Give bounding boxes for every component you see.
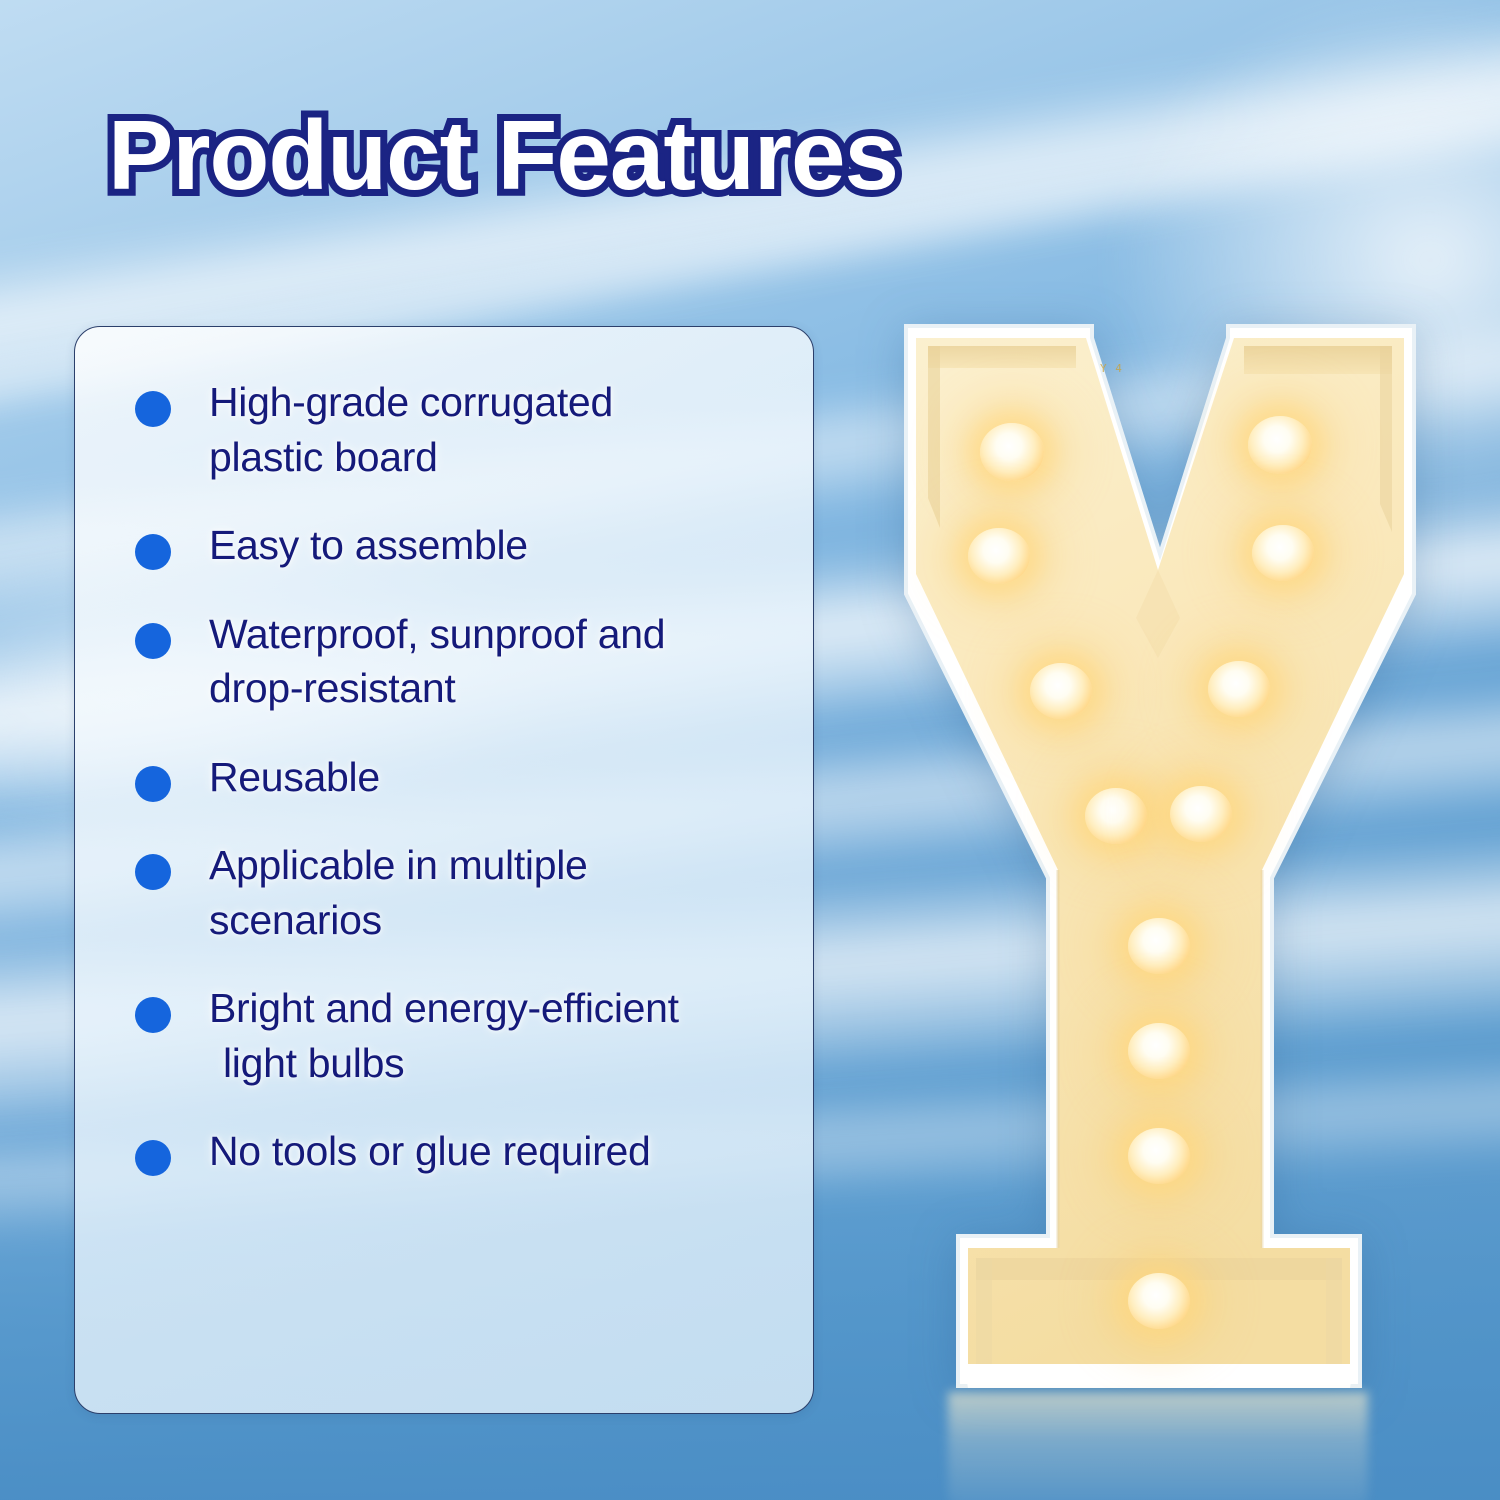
list-item: Easy to assemble xyxy=(135,518,795,573)
letter-inner-lip xyxy=(928,346,1076,368)
list-item: No tools or glue required xyxy=(135,1124,795,1179)
feature-line: Waterproof, sunproof and xyxy=(209,611,665,657)
feature-text: Reusable xyxy=(209,750,380,805)
light-bulb xyxy=(1128,1128,1190,1184)
feature-text: Waterproof, sunproof and drop-resistant xyxy=(209,607,665,716)
list-item: High-grade corrugated plastic board xyxy=(135,375,795,484)
feature-line: No tools or glue required xyxy=(209,1128,650,1174)
features-panel: High-grade corrugated plastic board Easy… xyxy=(74,326,814,1414)
letter-base-side xyxy=(976,1258,992,1364)
letter-base-side xyxy=(1326,1258,1342,1364)
bullet-icon xyxy=(135,854,171,890)
light-bulb xyxy=(980,423,1044,481)
light-bulb xyxy=(1128,918,1190,974)
light-bulb xyxy=(1128,1273,1190,1329)
list-item: Applicable in multiple scenarios xyxy=(135,838,795,947)
product-image xyxy=(880,318,1440,1408)
light-bulb xyxy=(1085,788,1147,844)
feature-line: Applicable in multiple xyxy=(209,842,588,888)
page-title: Product Features xyxy=(108,106,898,204)
letter-inner-lip xyxy=(1244,346,1392,374)
feature-line: light bulbs xyxy=(209,1036,679,1091)
feature-text: Applicable in multiple scenarios xyxy=(209,838,588,947)
feature-text: No tools or glue required xyxy=(209,1124,650,1179)
bullet-icon xyxy=(135,766,171,802)
light-bulb xyxy=(1128,1023,1190,1079)
feature-text: Bright and energy-efficient light bulbs xyxy=(209,981,679,1090)
light-bulb xyxy=(1170,786,1232,842)
letter-face xyxy=(916,338,1404,1374)
feature-line: drop-resistant xyxy=(209,661,665,716)
feature-text: High-grade corrugated plastic board xyxy=(209,375,613,484)
list-item: Waterproof, sunproof and drop-resistant xyxy=(135,607,795,716)
letter-base-front xyxy=(964,1364,1354,1388)
feature-line: Bright and energy-efficient xyxy=(209,985,679,1031)
light-bulb xyxy=(1208,661,1270,717)
infographic-canvas: Product Features High-grade corrugated p… xyxy=(0,0,1500,1500)
feature-line: Reusable xyxy=(209,754,380,800)
feature-line: High-grade corrugated xyxy=(209,379,613,425)
feature-text: Easy to assemble xyxy=(209,518,528,573)
light-bulb xyxy=(1030,663,1092,719)
bullet-icon xyxy=(135,391,171,427)
bullet-icon xyxy=(135,997,171,1033)
feature-line: scenarios xyxy=(209,893,588,948)
list-item: Bright and energy-efficient light bulbs xyxy=(135,981,795,1090)
bullet-icon xyxy=(135,623,171,659)
bullet-icon xyxy=(135,1140,171,1176)
marquee-letter-y xyxy=(880,318,1440,1408)
light-bulb xyxy=(968,528,1030,584)
feature-line: plastic board xyxy=(209,430,613,485)
product-reflection xyxy=(948,1392,1368,1500)
features-list: High-grade corrugated plastic board Easy… xyxy=(75,327,813,1413)
letter-inner-side xyxy=(928,346,940,528)
letter-inner-side xyxy=(1380,346,1392,532)
light-bulb xyxy=(1248,416,1312,474)
letter-size-marking: Y 4 xyxy=(1100,362,1123,375)
light-bulb xyxy=(1252,525,1314,581)
feature-line: Easy to assemble xyxy=(209,522,528,568)
list-item: Reusable xyxy=(135,750,795,805)
bullet-icon xyxy=(135,534,171,570)
